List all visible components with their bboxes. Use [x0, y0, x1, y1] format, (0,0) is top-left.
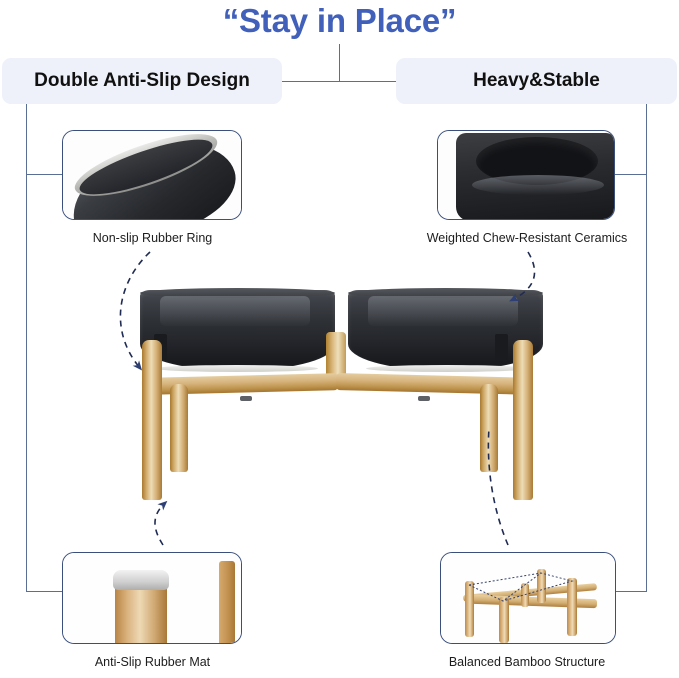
inset-balanced-bamboo-structure: [440, 552, 616, 644]
connector-left-bottom-branch: [26, 591, 64, 592]
bowl-underside-image: [63, 131, 241, 219]
bowl-right-base: [366, 365, 528, 372]
connector-title-vertical: [339, 44, 340, 82]
feature-header-right-label: Heavy&Stable: [473, 70, 600, 92]
page-title: “Stay in Place”: [0, 2, 679, 40]
leg-with-mat-image: [63, 553, 241, 643]
connector-right-spine: [646, 104, 647, 591]
inset-weighted-ceramics: [437, 130, 615, 220]
stand-leg-front-left: [142, 340, 162, 500]
connector-left-spine: [26, 104, 27, 591]
bamboo-frame-image: [441, 553, 615, 643]
product-image: [120, 272, 560, 522]
connector-right-bottom-branch: [613, 591, 647, 592]
bamboo-leg-shape: [115, 585, 167, 644]
rubber-mat-shape: [113, 570, 169, 590]
inset-non-slip-rubber-ring: [62, 130, 242, 220]
caption-non-slip-rubber-ring: Non-slip Rubber Ring: [0, 231, 305, 245]
feature-header-left: Double Anti-Slip Design: [2, 58, 282, 104]
bowl-interior-image: [438, 131, 614, 219]
stand-rail-right: [336, 373, 532, 395]
bowl-right-tab: [495, 334, 508, 360]
caption-anti-slip-rubber-mat: Anti-Slip Rubber Mat: [0, 655, 305, 669]
stand-leg-rear-right: [480, 384, 498, 472]
stand-leg-front-right: [513, 340, 533, 500]
inset-anti-slip-rubber-mat: [62, 552, 242, 644]
bowl-left-gloss: [160, 296, 310, 326]
stand-foot-left: [240, 396, 252, 401]
connector-right-top-branch: [612, 174, 647, 175]
feature-header-left-label: Double Anti-Slip Design: [34, 70, 250, 92]
bowl-right-gloss: [368, 296, 518, 326]
bowl-left-base: [156, 365, 318, 372]
caption-weighted-ceramics: Weighted Chew-Resistant Ceramics: [375, 231, 679, 245]
connector-headers-horizontal: [282, 81, 397, 82]
infographic-canvas: “Stay in Place” Double Anti-Slip Design …: [0, 0, 679, 678]
connector-left-top-branch: [26, 174, 64, 175]
stand-leg-rear-left: [170, 384, 188, 472]
triangulation-lines-icon: [441, 553, 616, 644]
bowl-sheen-shape: [472, 175, 604, 195]
bamboo-side-post-shape: [219, 561, 235, 644]
feature-header-right: Heavy&Stable: [396, 58, 677, 104]
caption-balanced-bamboo-structure: Balanced Bamboo Structure: [375, 655, 679, 669]
stand-foot-right: [418, 396, 430, 401]
